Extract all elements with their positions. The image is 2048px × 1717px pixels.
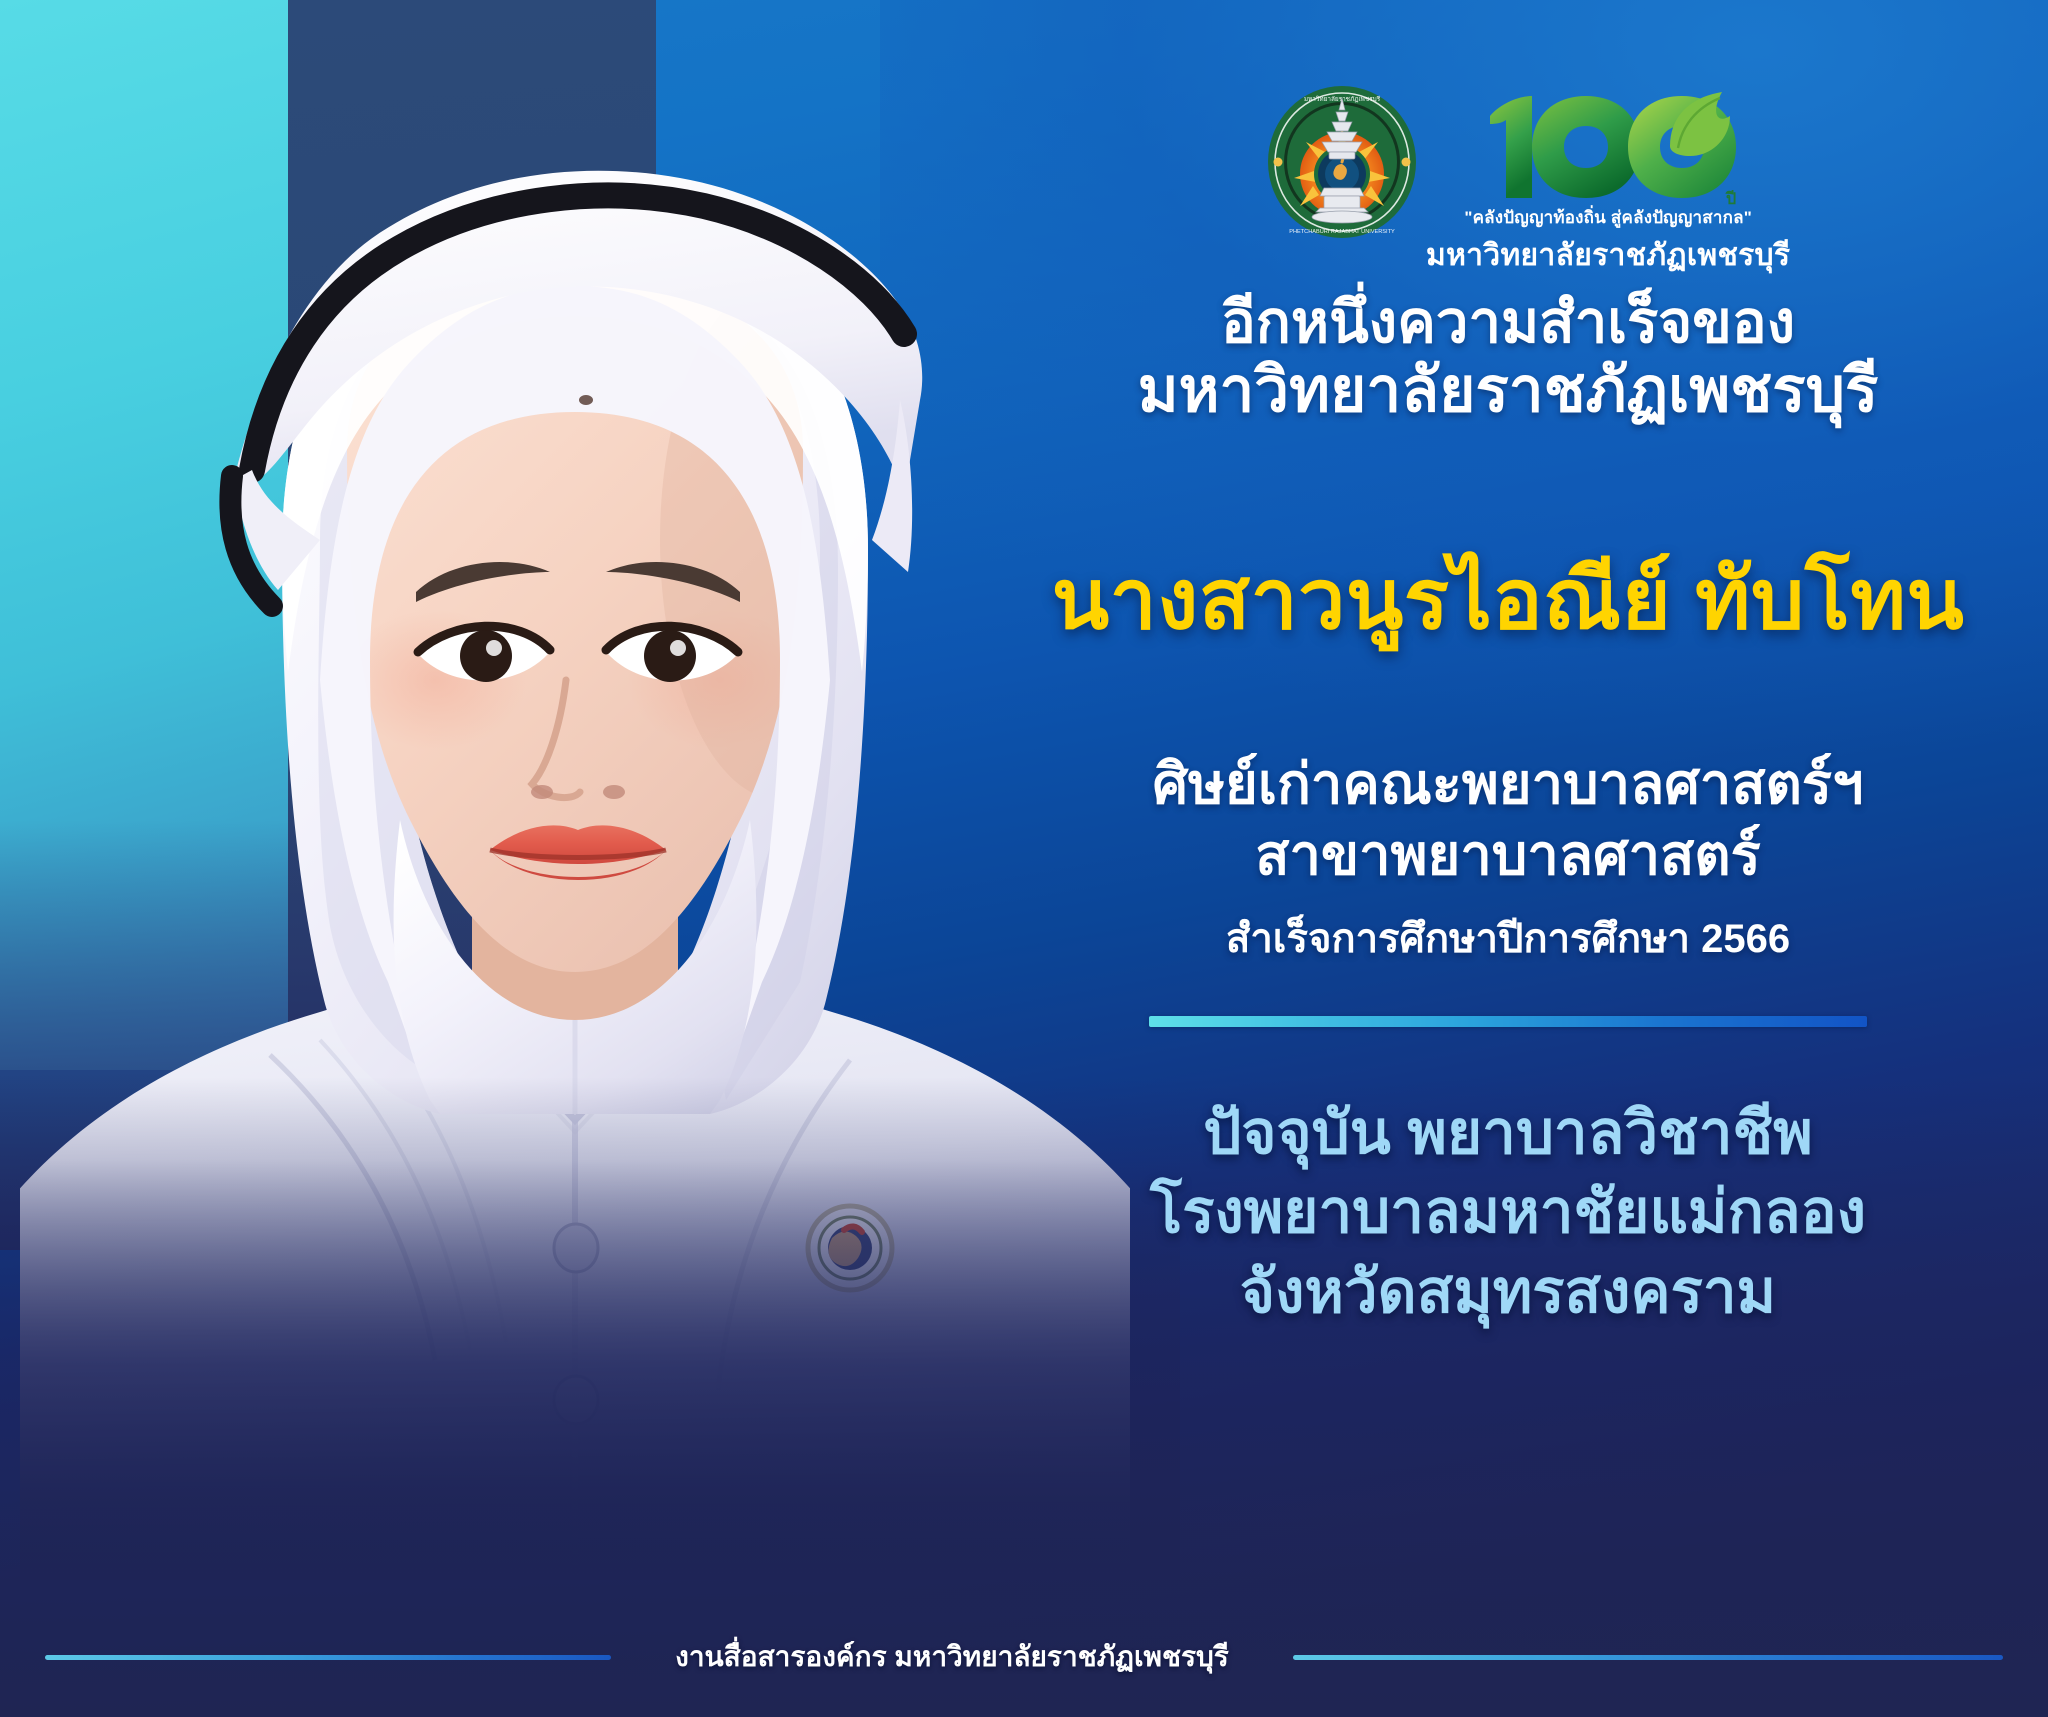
logo-university-name: มหาวิทยาลัยราชภัฏเพชรบุรี [1426, 232, 1790, 279]
svg-text:มหาวิทยาลัยราชภัฏเพชรบุรี: มหาวิทยาลัยราชภัฏเพชรบุรี [1304, 95, 1381, 103]
current-position-line-3: จังหวัดสมุทรสงคราม [1038, 1252, 1978, 1331]
education-line-2: สาขาพยาบาลศาสตร์ [1038, 820, 1978, 891]
education-line-1: ศิษย์เก่าคณะพยาบาลศาสตร์ฯ [1038, 749, 1978, 820]
headline-line-1: อีกหนึ่งความสำเร็จของ [1221, 290, 1795, 355]
footer-rule-right [1293, 1655, 2003, 1660]
section-divider [1149, 1016, 1867, 1027]
footer-bar: งานสื่อสารองค์กร มหาวิทยาลัยราชภัฏเพชรบุ… [0, 1597, 2048, 1717]
background-navy-panel-fade [288, 760, 656, 1160]
current-position-line-2: โรงพยาบาลมหาชัยแม่กลอง [1038, 1172, 1978, 1251]
headline-line-2: มหาวิทยาลัยราชภัฏเพชรบุรี [1038, 356, 1978, 427]
graduation-year: สำเร็จการศึกษาปีการศึกษา 2566 [1038, 906, 1978, 970]
current-position-line-1: ปัจจุบัน พยาบาลวิชาชีพ [1038, 1093, 1978, 1172]
footer-credit: งานสื่อสารองค์กร มหาวิทยาลัยราชภัฏเพชรบุ… [675, 1635, 1229, 1679]
100-years-leaf-logo-icon: ปี [1474, 90, 1742, 210]
current-position-block: ปัจจุบัน พยาบาลวิชาชีพ โรงพยาบาลมหาชัยแม… [1038, 1093, 1978, 1331]
pbru-university-seal-icon: มหาวิทยาลัยราชภัฏเพชรบุรี PHETCHABURI RA… [1266, 86, 1418, 238]
honoree-name: นางสาวนูรไอณีย์ ทับโทน [1038, 553, 1978, 645]
education-block: ศิษย์เก่าคณะพยาบาลศาสตร์ฯ สาขาพยาบาลศาสต… [1038, 749, 1978, 890]
background-cyan-fade [0, 820, 288, 1250]
footer-rule-left [45, 1655, 611, 1660]
svg-text:PHETCHABURI RAJABHAT UNIVERSIT: PHETCHABURI RAJABHAT UNIVERSITY [1289, 229, 1395, 235]
logo-tagline: "คลังปัญญาท้องถิ่น สู่คลังปัญญาสากล" [1464, 204, 1752, 231]
poster-canvas: มหาวิทยาลัยราชภัฏเพชรบุรี PHETCHABURI RA… [0, 0, 2048, 1717]
university-logo-block: มหาวิทยาลัยราชภัฏเพชรบุรี PHETCHABURI RA… [1266, 86, 1906, 266]
headline-block: อีกหนึ่งความสำเร็จของ มหาวิทยาลัยราชภัฏเ… [1038, 290, 1978, 427]
content-column: อีกหนึ่งความสำเร็จของ มหาวิทยาลัยราชภัฏเ… [1038, 290, 1978, 1331]
